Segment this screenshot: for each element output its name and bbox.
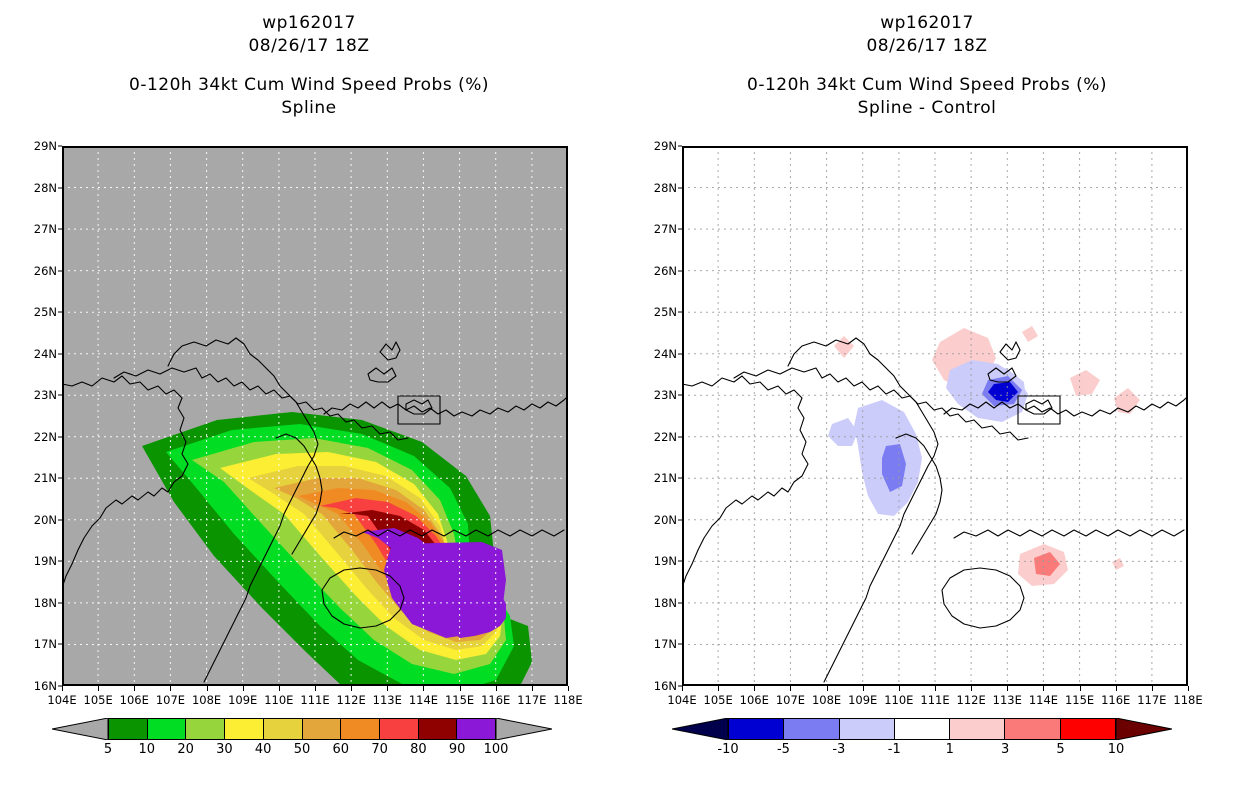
colorbar-swatch-1 — [148, 719, 187, 739]
colorbar-label-30: 30 — [216, 742, 233, 757]
plot-area-difference: 29N28N27N26N25N24N23N22N21N20N19N18N17N1… — [682, 146, 1188, 686]
plot-subtitle-right: Spline - Control — [618, 97, 1236, 120]
y-tick-22N: 22N — [34, 430, 62, 444]
x-tick-110E: 110E — [884, 686, 913, 707]
panel-left-titles: wp162017 08/26/17 18Z 0-120h 34kt Cum Wi… — [0, 12, 618, 120]
colorbar-labels-right: -10-5-3-113510 — [728, 742, 1116, 760]
x-tick-113E: 113E — [373, 686, 402, 707]
x-tick-106E: 106E — [740, 686, 769, 707]
x-tick-114E: 114E — [409, 686, 438, 707]
plot-frame-left — [62, 146, 568, 686]
x-tick-108E: 108E — [192, 686, 221, 707]
colorbar-swatch-0 — [729, 719, 784, 739]
colorbar-label-5: 5 — [104, 742, 112, 757]
colorbar-under-cap-right — [672, 718, 728, 740]
colorbar-swatch-8 — [419, 719, 458, 739]
x-tick-116E: 116E — [1101, 686, 1130, 707]
y-tick-25N: 25N — [34, 305, 62, 319]
y-tick-29N: 29N — [654, 139, 682, 153]
colorbar-swatch-3 — [895, 719, 950, 739]
colorbar-label-10: 10 — [1108, 742, 1125, 757]
y-tick-29N: 29N — [34, 139, 62, 153]
colorbar-swatch-7 — [380, 719, 419, 739]
x-tick-108E: 108E — [812, 686, 841, 707]
x-tick-117E: 117E — [1137, 686, 1166, 707]
x-tick-112E: 112E — [337, 686, 366, 707]
x-tick-115E: 115E — [445, 686, 474, 707]
colorbar-spline: 5102030405060708090100 — [52, 718, 552, 744]
colorbar-swatch-5 — [303, 719, 342, 739]
x-tick-109E: 109E — [848, 686, 877, 707]
colorbar-swatch-2 — [186, 719, 225, 739]
y-tick-27N: 27N — [34, 222, 62, 236]
y-tick-21N: 21N — [34, 471, 62, 485]
x-tick-118E: 118E — [1173, 686, 1202, 707]
x-tick-118E: 118E — [553, 686, 582, 707]
x-tick-117E: 117E — [517, 686, 546, 707]
colorbar-difference: -10-5-3-113510 — [672, 718, 1172, 744]
colorbar-swatches-right — [728, 718, 1116, 740]
colorbar-label-60: 60 — [333, 742, 350, 757]
x-tick-107E: 107E — [776, 686, 805, 707]
colorbar-label-80: 80 — [410, 742, 427, 757]
colorbar-label--5: -5 — [777, 742, 790, 757]
colorbar-label-3: 3 — [1001, 742, 1009, 757]
x-tick-109E: 109E — [228, 686, 257, 707]
y-tick-25N: 25N — [654, 305, 682, 319]
y-tick-26N: 26N — [34, 264, 62, 278]
colorbar-label--3: -3 — [832, 742, 845, 757]
colorbar-label-100: 100 — [484, 742, 509, 757]
colorbar-label-5: 5 — [1056, 742, 1064, 757]
panel-spline-control: wp162017 08/26/17 18Z 0-120h 34kt Cum Wi… — [618, 0, 1236, 800]
plot-area-spline: 29N28N27N26N25N24N23N22N21N20N19N18N17N1… — [62, 146, 568, 686]
colorbar-label-90: 90 — [449, 742, 466, 757]
x-tick-105E: 105E — [704, 686, 733, 707]
x-tick-110E: 110E — [264, 686, 293, 707]
colorbar-label--10: -10 — [717, 742, 738, 757]
y-tick-28N: 28N — [34, 181, 62, 195]
x-tick-104E: 104E — [47, 686, 76, 707]
colorbar-labels-left: 5102030405060708090100 — [108, 742, 496, 760]
y-tick-21N: 21N — [654, 471, 682, 485]
y-tick-24N: 24N — [34, 347, 62, 361]
x-tick-105E: 105E — [84, 686, 113, 707]
x-tick-104E: 104E — [667, 686, 696, 707]
y-tick-27N: 27N — [654, 222, 682, 236]
colorbar-swatch-5 — [1005, 719, 1060, 739]
x-tick-106E: 106E — [120, 686, 149, 707]
y-tick-23N: 23N — [34, 388, 62, 402]
colorbar-swatches-left — [108, 718, 496, 740]
x-tick-111E: 111E — [920, 686, 949, 707]
colorbar-label-40: 40 — [255, 742, 272, 757]
colorbar-label-50: 50 — [294, 742, 311, 757]
storm-id: wp162017 — [0, 12, 618, 35]
forecast-datetime-right: 08/26/17 18Z — [618, 35, 1236, 58]
plot-title-right: 0-120h 34kt Cum Wind Speed Probs (%) — [618, 74, 1236, 97]
colorbar-over-cap — [496, 718, 552, 740]
y-tick-19N: 19N — [654, 554, 682, 568]
y-tick-18N: 18N — [654, 596, 682, 610]
colorbar-label-70: 70 — [371, 742, 388, 757]
panel-spline: wp162017 08/26/17 18Z 0-120h 34kt Cum Wi… — [0, 0, 618, 800]
y-tick-17N: 17N — [34, 637, 62, 651]
colorbar-swatch-6 — [341, 719, 380, 739]
y-tick-19N: 19N — [34, 554, 62, 568]
colorbar-label-1: 1 — [946, 742, 954, 757]
colorbar-swatch-4 — [264, 719, 303, 739]
panel-right-titles: wp162017 08/26/17 18Z 0-120h 34kt Cum Wi… — [618, 12, 1236, 120]
colorbar-label-10: 10 — [139, 742, 156, 757]
storm-id-right: wp162017 — [618, 12, 1236, 35]
colorbar-swatch-1 — [784, 719, 839, 739]
colorbar-swatch-2 — [840, 719, 895, 739]
colorbar-swatch-9 — [457, 719, 495, 739]
y-tick-22N: 22N — [654, 430, 682, 444]
colorbar-over-cap-right — [1116, 718, 1172, 740]
x-tick-107E: 107E — [156, 686, 185, 707]
x-tick-115E: 115E — [1065, 686, 1094, 707]
colorbar-swatch-6 — [1061, 719, 1115, 739]
colorbar-swatch-0 — [109, 719, 148, 739]
plot-title: 0-120h 34kt Cum Wind Speed Probs (%) — [0, 74, 618, 97]
y-tick-24N: 24N — [654, 347, 682, 361]
x-tick-116E: 116E — [481, 686, 510, 707]
y-tick-26N: 26N — [654, 264, 682, 278]
plot-subtitle: Spline — [0, 97, 618, 120]
y-tick-20N: 20N — [34, 513, 62, 527]
y-tick-28N: 28N — [654, 181, 682, 195]
colorbar-label--1: -1 — [888, 742, 901, 757]
x-tick-114E: 114E — [1029, 686, 1058, 707]
colorbar-label-20: 20 — [177, 742, 194, 757]
forecast-datetime: 08/26/17 18Z — [0, 35, 618, 58]
x-tick-113E: 113E — [993, 686, 1022, 707]
x-tick-112E: 112E — [957, 686, 986, 707]
colorbar-swatch-3 — [225, 719, 264, 739]
plot-frame-right — [682, 146, 1188, 686]
colorbar-swatch-4 — [950, 719, 1005, 739]
y-tick-17N: 17N — [654, 637, 682, 651]
x-tick-111E: 111E — [300, 686, 329, 707]
y-tick-20N: 20N — [654, 513, 682, 527]
colorbar-under-cap — [52, 718, 108, 740]
y-tick-18N: 18N — [34, 596, 62, 610]
y-tick-23N: 23N — [654, 388, 682, 402]
